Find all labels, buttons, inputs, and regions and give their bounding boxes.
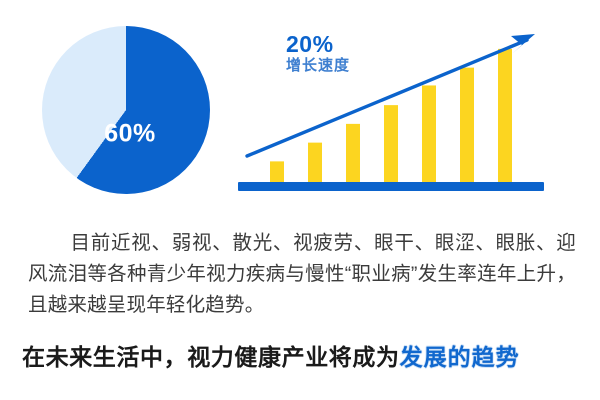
infographic-page: 60% 20% 增长速度 目前近视、弱视、散光、视疲劳	[0, 0, 600, 400]
headline-highlight-text: 发展的趋势	[400, 344, 520, 370]
bar	[346, 124, 360, 182]
bar-chart: 20% 增长速度	[230, 20, 570, 200]
bar	[270, 161, 284, 182]
bar	[422, 85, 436, 182]
growth-caption-label: 增长速度	[286, 58, 350, 74]
growth-annotation: 20% 增长速度	[286, 32, 350, 74]
graphics-band: 60% 20% 增长速度	[0, 0, 600, 215]
bar	[384, 105, 398, 182]
pie-slices	[42, 26, 210, 194]
growth-percent-label: 20%	[286, 32, 350, 57]
bar	[308, 143, 322, 182]
headline-dark-text: 在未来生活中，视力健康产业将成为	[22, 344, 400, 370]
bar	[460, 68, 474, 182]
pie-chart: 60%	[42, 26, 210, 194]
paragraph-line-1: 目前近视、弱视、散光、视疲劳、眼干、眼涩、眼胀、	[70, 232, 556, 254]
headline: 在未来生活中，视力健康产业将成为发展的趋势	[22, 338, 520, 372]
chart-baseline	[238, 182, 544, 191]
bar-chart-svg	[230, 20, 570, 200]
body-paragraph: 目前近视、弱视、散光、视疲劳、眼干、眼涩、眼胀、迎风流泪等各种青少年视力疾病与慢…	[28, 228, 576, 321]
bar	[498, 49, 512, 182]
